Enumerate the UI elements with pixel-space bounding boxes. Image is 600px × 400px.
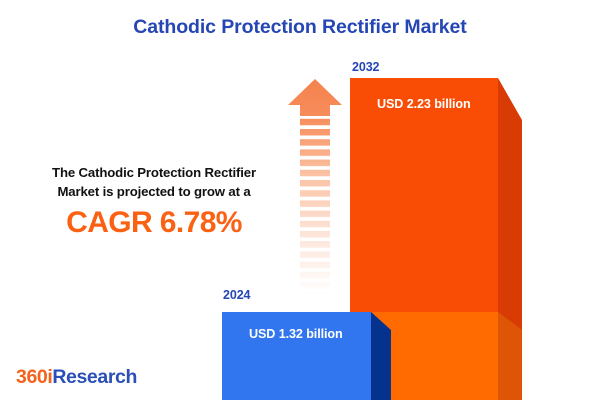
infographic-canvas: Cathodic Protection Rectifier Market The…	[0, 0, 600, 400]
bar-2024-side-face	[371, 312, 391, 400]
bar-label-year-2024: 2024	[223, 288, 250, 302]
bar-2024-front-face	[222, 312, 371, 400]
narrative-line-2: Market is projected to grow at a	[18, 182, 290, 201]
narrative-line-1: The Cathodic Protection Rectifier	[18, 163, 290, 182]
cagr-value: CAGR 6.78%	[18, 206, 290, 240]
bar-label-year-2032: 2032	[352, 60, 379, 74]
page-title: Cathodic Protection Rectifier Market	[0, 16, 600, 39]
bar-value-2032: USD 2.23 billion	[377, 97, 471, 111]
bar-value-2024: USD 1.32 billion	[249, 327, 343, 341]
bar-2032-lower-side-face	[498, 312, 522, 400]
brand-logo-prefix: 360i	[16, 366, 52, 388]
narrative-block: The Cathodic Protection Rectifier Market…	[18, 163, 290, 240]
brand-logo: 360iResearch	[16, 366, 137, 389]
up-arrow-icon	[286, 78, 344, 296]
brand-logo-suffix: Research	[52, 366, 137, 388]
